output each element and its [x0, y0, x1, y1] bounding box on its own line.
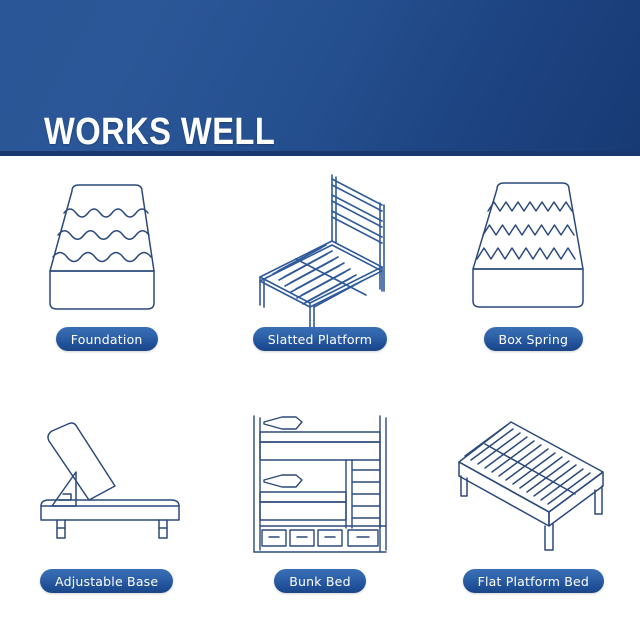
page-title-line-1: WORKS WELL	[44, 111, 374, 153]
base-label-slatted-platform: Slatted Platform	[253, 327, 387, 351]
base-label-adjustable-base: Adjustable Base	[40, 569, 173, 593]
base-card-box-spring[interactable]: Box Spring	[427, 156, 640, 398]
adjustable-base-icon	[12, 402, 202, 567]
box-spring-icon	[438, 160, 628, 325]
base-label-bunk-bed: Bunk Bed	[274, 569, 365, 593]
base-card-flat-platform-bed[interactable]: Flat Platform Bed	[427, 398, 640, 640]
base-card-slatted-platform[interactable]: Slatted Platform	[213, 156, 426, 398]
base-card-adjustable-base[interactable]: Adjustable Base	[0, 398, 213, 640]
slatted-platform-bed-icon	[225, 160, 415, 325]
base-label-box-spring: Box Spring	[484, 327, 584, 351]
header-banner: WORKS WELL WITH THESE BASES	[0, 0, 640, 156]
bunk-bed-icon	[225, 402, 415, 567]
base-card-bunk-bed[interactable]: Bunk Bed	[213, 398, 426, 640]
page-title: WORKS WELL WITH THESE BASES	[44, 27, 374, 156]
base-label-foundation: Foundation	[56, 327, 158, 351]
flat-platform-bed-icon	[438, 402, 628, 567]
foundation-mattress-icon	[12, 160, 202, 325]
base-label-flat-platform-bed: Flat Platform Bed	[463, 569, 605, 593]
base-card-foundation[interactable]: Foundation	[0, 156, 213, 398]
compatible-bases-grid: Foundation	[0, 156, 640, 640]
